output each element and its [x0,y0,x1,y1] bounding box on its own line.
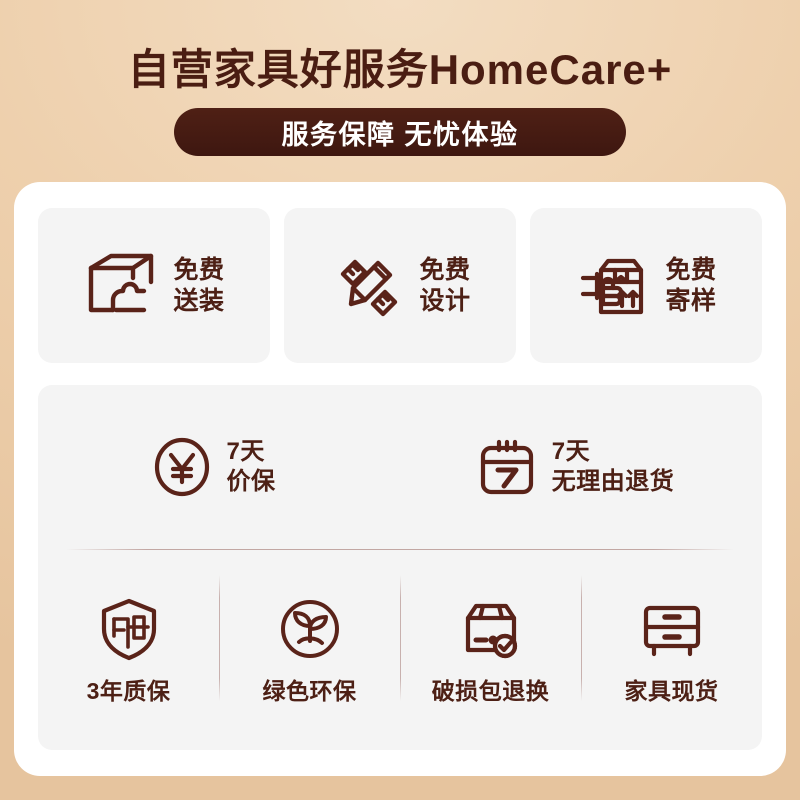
service-card-label: 免费 设计 [419,255,470,317]
guarantee-label: 7天 价保 [227,437,276,497]
feature-damage-return[interactable]: 破损包退换 [400,551,581,750]
eco-leaf-icon [277,596,343,662]
damaged-return-icon [458,596,524,662]
service-card-free-sample[interactable]: 免费 寄样 [530,208,762,363]
section-divider [66,549,734,550]
hand-parcel-icon [575,248,651,324]
guarantee-label: 7天 无理由退货 [552,437,675,497]
cabinet-stock-icon [639,596,705,662]
calendar-seven-icon [476,436,538,498]
guarantee-price-protection[interactable]: 7天 价保 [38,385,400,549]
service-card-free-design[interactable]: 免费 设计 [284,208,516,363]
guarantee-no-reason-return[interactable]: 7天 无理由退货 [400,385,762,549]
guarantee-row: 7天 价保 [38,385,762,549]
feature-label: 绿色环保 [263,672,357,706]
content-panel: 免费 送装 [14,182,786,776]
feature-in-stock[interactable]: 家具现货 [581,551,762,750]
service-card-row: 免费 送装 [38,208,762,363]
service-card-free-delivery[interactable]: 免费 送装 [38,208,270,363]
feature-label: 破损包退换 [432,672,550,706]
promo-banner: 自营家具好服务HomeCare+ 服务保障 无忧体验 [0,0,800,800]
shield-warranty-icon [96,596,162,662]
delivery-box-icon [83,248,159,324]
feature-row: 3年质保 绿色环保 [38,551,762,750]
yen-price-protection-icon [151,436,213,498]
guarantee-feature-card: 7天 价保 [38,385,762,750]
pencil-ruler-icon [329,248,405,324]
feature-label: 家具现货 [625,672,719,706]
header-badge-label: 服务保障 无忧体验 [281,113,518,152]
service-card-label: 免费 送装 [173,255,224,317]
header-badge: 服务保障 无忧体验 [174,108,626,156]
page-title: 自营家具好服务HomeCare+ [0,44,800,96]
service-card-label: 免费 寄样 [665,255,716,317]
feature-warranty[interactable]: 3年质保 [38,551,219,750]
header: 自营家具好服务HomeCare+ 服务保障 无忧体验 [0,0,800,170]
feature-eco-friendly[interactable]: 绿色环保 [219,551,400,750]
feature-label: 3年质保 [87,672,171,706]
